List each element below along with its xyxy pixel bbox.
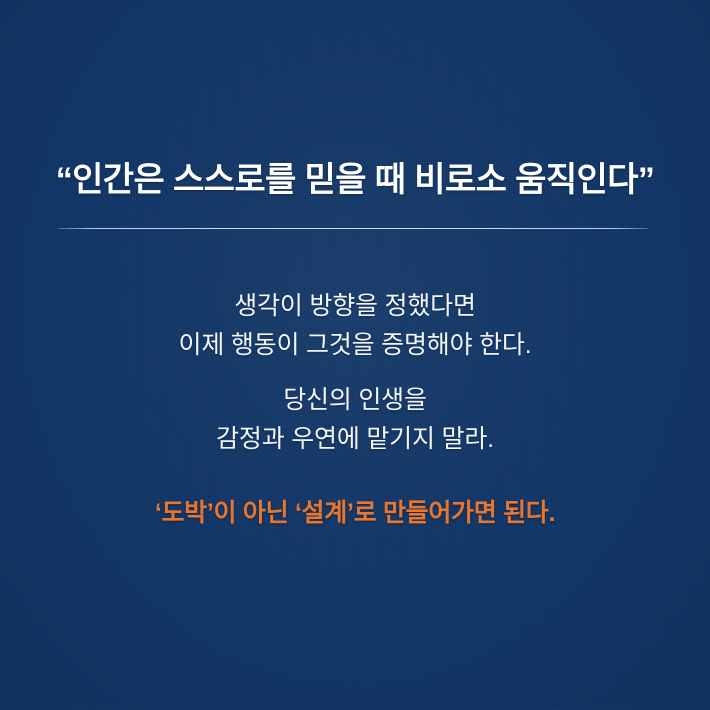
paragraph-1-line-1: 생각이 방향을 정했다면 [0,287,710,326]
paragraph-2-line-1: 당신의 인생을 [0,381,710,420]
card-content: “인간은 스스로를 믿을 때 비로소 움직인다” 생각이 방향을 정했다면 이제… [0,0,710,710]
paragraph-1-line-2: 이제 행동이 그것을 증명해야 한다. [0,326,710,365]
paragraph-2-line-2: 감정과 우연에 맡기지 말라. [0,420,710,459]
headline-quote: “인간은 스스로를 믿을 때 비로소 움직인다” [0,160,710,201]
quote-card: “인간은 스스로를 믿을 때 비로소 움직인다” 생각이 방향을 정했다면 이제… [0,0,710,710]
body-paragraph-2: 당신의 인생을 감정과 우연에 맡기지 말라. [0,381,710,459]
headline-divider [58,228,648,229]
body-paragraph-1: 생각이 방향을 정했다면 이제 행동이 그것을 증명해야 한다. [0,287,710,365]
accent-conclusion-line: ‘도박’이 아닌 ‘설계’로 만들어가면 된다. [0,496,710,531]
